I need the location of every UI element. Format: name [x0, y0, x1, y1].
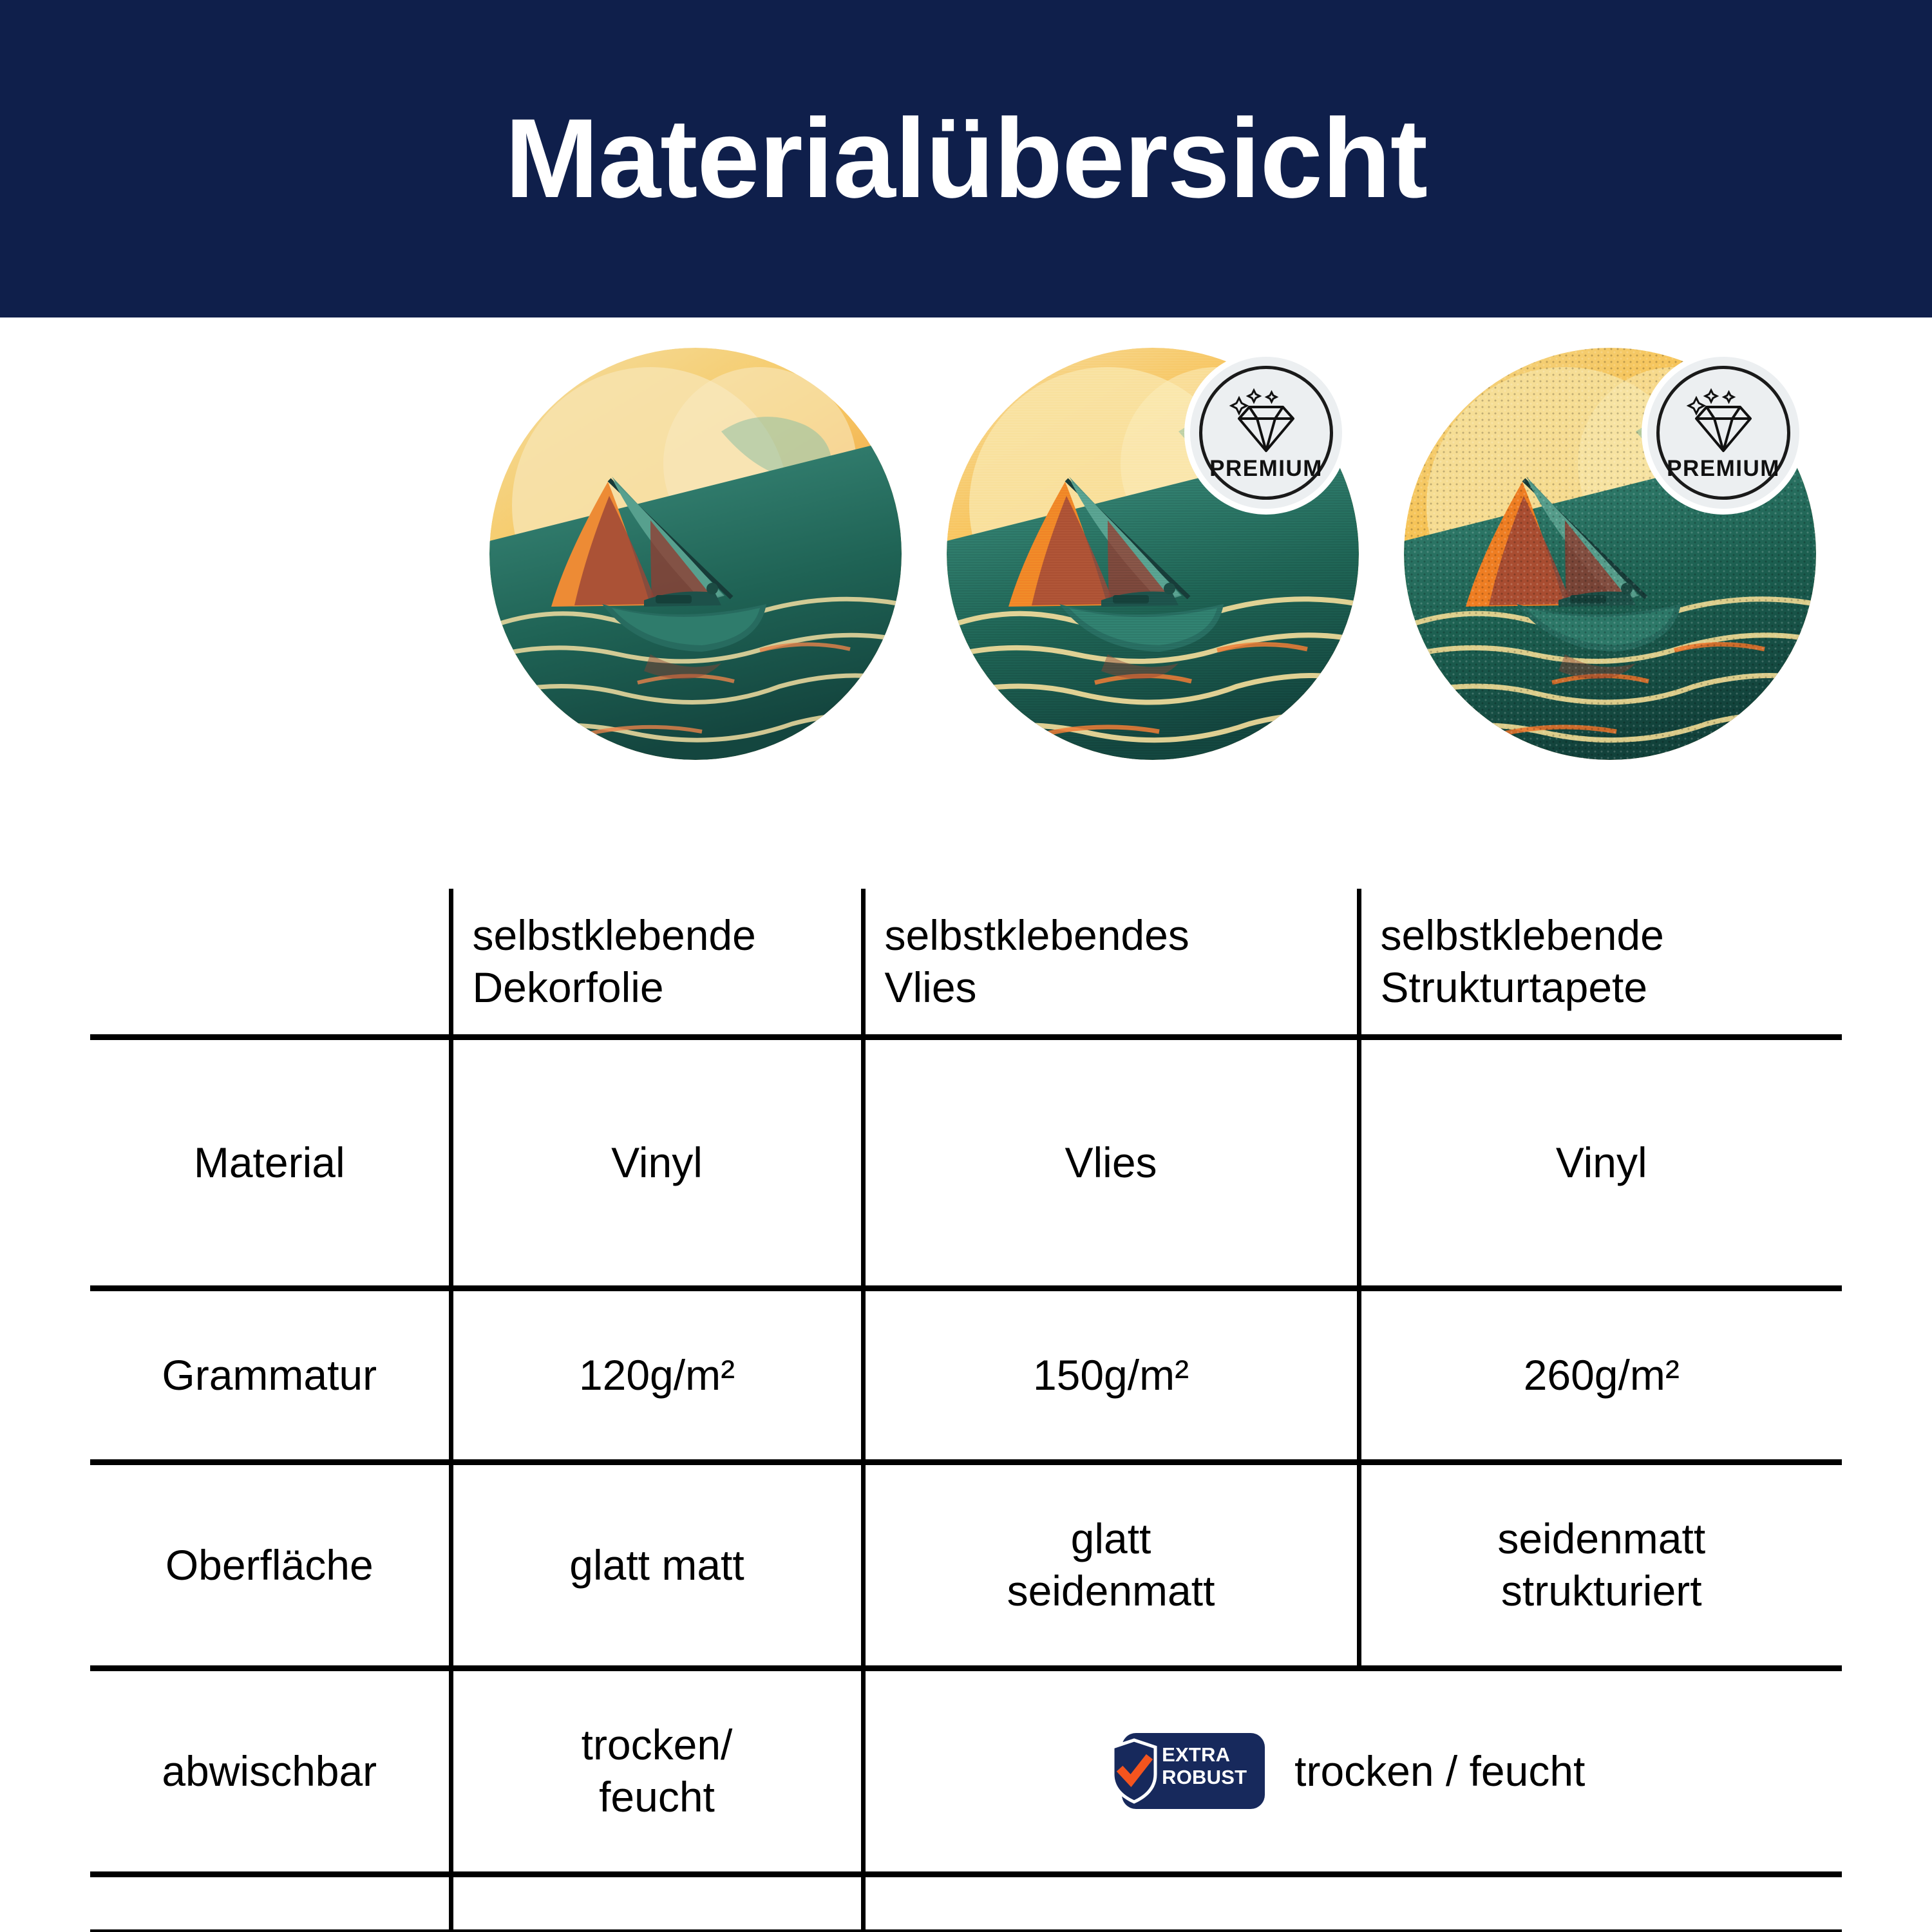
cell-line-2: strukturiert	[1370, 1565, 1833, 1617]
row-label-oberflaeche: Oberfläche	[90, 1462, 451, 1668]
cell-oberflaeche-dekorfolie: glatt matt	[451, 1462, 863, 1668]
extra-robust-badge-text: EXTRA ROBUST	[1162, 1744, 1247, 1788]
header-cell-strukturtapete: selbstklebende Strukturtapete	[1359, 889, 1842, 1037]
cell-grammatur-vlies: 150g/m²	[863, 1288, 1359, 1462]
cell-line-1: trocken/	[462, 1719, 852, 1771]
cell-line-2: seidenmatt	[875, 1565, 1348, 1617]
spacer-cell	[451, 1874, 863, 1932]
table-row-grammatur: Grammatur 120g/m² 150g/m² 260g/m²	[90, 1288, 1842, 1462]
diamond-icon	[1227, 388, 1305, 455]
cell-grammatur-dekorfolie: 120g/m²	[451, 1288, 863, 1462]
cell-abwischbar-merged: EXTRA ROBUST trocken / feucht	[863, 1668, 1842, 1874]
premium-badge: PREMIUM	[1647, 357, 1799, 509]
header-line-2: Dekorfolie	[473, 961, 852, 1014]
premium-badge-label: PREMIUM	[1209, 456, 1323, 482]
row-label-material: Material	[90, 1037, 451, 1288]
product-swatch-strukturtapete[interactable]: PREMIUM	[1404, 348, 1816, 760]
page-title: Materialübersicht	[505, 102, 1427, 215]
product-swatch-vlies[interactable]: PREMIUM	[947, 348, 1359, 760]
table-row-material: Material Vinyl Vlies Vinyl	[90, 1037, 1842, 1288]
sailboat-illustration-icon	[489, 348, 902, 760]
header-cell-vlies: selbstklebendes Vlies	[863, 889, 1359, 1037]
premium-badge: PREMIUM	[1190, 357, 1342, 509]
extra-robust-badge: EXTRA ROBUST	[1122, 1733, 1265, 1809]
table-header-row: selbstklebende Dekorfolie selbstklebende…	[90, 889, 1842, 1037]
cell-oberflaeche-vlies: glatt seidenmatt	[863, 1462, 1359, 1668]
material-overview-page: Materialübersicht	[0, 0, 1932, 1932]
cell-line-1: glatt	[875, 1513, 1348, 1565]
header-line-1: selbstklebendes	[885, 909, 1348, 961]
cell-material-vlies: Vlies	[863, 1037, 1359, 1288]
cell-material-strukturtapete: Vinyl	[1359, 1037, 1842, 1288]
diamond-icon	[1685, 388, 1762, 455]
header-line-1: selbstklebende	[473, 909, 852, 961]
row-label-abwischbar: abwischbar	[90, 1668, 451, 1874]
cell-line-1: seidenmatt	[1370, 1513, 1833, 1565]
row-label-grammatur: Grammatur	[90, 1288, 451, 1462]
header-line-2: Strukturtapete	[1381, 961, 1833, 1014]
cell-line-2: feucht	[462, 1771, 852, 1823]
cell-material-dekorfolie: Vinyl	[451, 1037, 863, 1288]
material-spec-table: selbstklebende Dekorfolie selbstklebende…	[90, 889, 1842, 1932]
header-line-1: selbstklebende	[1381, 909, 1833, 961]
header-line-2: Vlies	[885, 961, 1348, 1014]
cell-oberflaeche-strukturtapete: seidenmatt strukturiert	[1359, 1462, 1842, 1668]
shield-check-icon	[1110, 1738, 1158, 1804]
spacer-cell	[90, 1874, 451, 1932]
badge-line-2: ROBUST	[1162, 1766, 1247, 1789]
page-header-band: Materialübersicht	[0, 0, 1932, 317]
header-cell-dekorfolie: selbstklebende Dekorfolie	[451, 889, 863, 1037]
table-row-abwischbar: abwischbar trocken/ feucht	[90, 1668, 1842, 1874]
table-row-oberflaeche: Oberfläche glatt matt glatt seidenmatt s…	[90, 1462, 1842, 1668]
spacer-cell	[863, 1874, 1359, 1932]
cell-abwischbar-merged-label: trocken / feucht	[1294, 1745, 1585, 1797]
premium-badge-label: PREMIUM	[1667, 456, 1780, 482]
product-swatch-dekorfolie[interactable]	[489, 348, 902, 760]
badge-line-1: EXTRA	[1162, 1744, 1247, 1766]
table-bottom-spacer-row	[90, 1874, 1842, 1932]
cell-grammatur-strukturtapete: 260g/m²	[1359, 1288, 1842, 1462]
cell-abwischbar-dekorfolie: trocken/ feucht	[451, 1668, 863, 1874]
header-cell-empty	[90, 889, 451, 1037]
spacer-cell	[1359, 1874, 1842, 1932]
